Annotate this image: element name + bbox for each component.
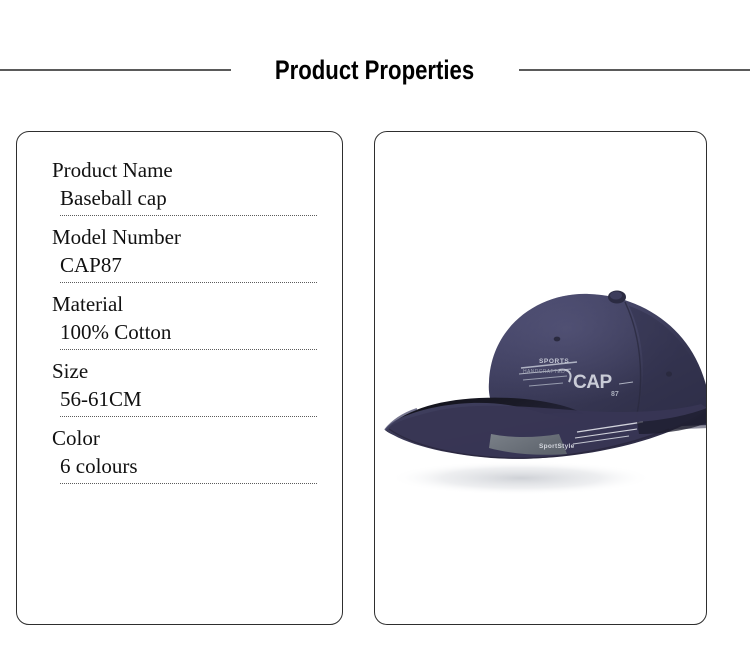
specifications-panel: Product Name Baseball cap Model Number C…	[16, 131, 343, 625]
spec-value-container: Baseball cap	[36, 188, 323, 216]
cap-eyelet	[554, 337, 561, 342]
spec-row: Product Name Baseball cap	[36, 149, 323, 216]
spec-value-color: 6 colours	[60, 456, 317, 484]
spec-value-container: 6 colours	[36, 456, 323, 484]
page-title: Product Properties	[275, 57, 474, 84]
spec-value-material: 100% Cotton	[60, 322, 317, 350]
spec-row: Size 56-61CM	[36, 350, 323, 417]
spec-label-product-name: Product Name	[36, 149, 323, 188]
spec-value-product-name: Baseball cap	[60, 188, 317, 216]
spec-label-material: Material	[36, 283, 323, 322]
spec-value-model-number: CAP87	[60, 255, 317, 283]
spec-label-model-number: Model Number	[36, 216, 323, 255]
spec-row: Model Number CAP87	[36, 216, 323, 283]
spec-label-color: Color	[36, 417, 323, 456]
product-image-panel: SPORTS HANDCRAFTED CAP 87 SportStyl	[374, 131, 707, 625]
svg-text:HANDCRAFTED: HANDCRAFTED	[523, 369, 565, 375]
cap-eyelet	[666, 371, 672, 376]
spec-value-container: 100% Cotton	[36, 322, 323, 350]
cap-top-button-highlight	[610, 292, 622, 300]
spec-value-container: 56-61CM	[36, 389, 323, 417]
spec-row: Material 100% Cotton	[36, 283, 323, 350]
header-divider-left	[0, 69, 231, 71]
spec-value-container: CAP87	[36, 255, 323, 283]
specification-list: Product Name Baseball cap Model Number C…	[36, 149, 323, 484]
spec-row: Color 6 colours	[36, 417, 323, 484]
header-divider-right	[519, 69, 750, 71]
svg-text:SportStyle: SportStyle	[539, 443, 575, 450]
page-header: Product Properties	[0, 48, 750, 92]
product-image-stage: SPORTS HANDCRAFTED CAP 87 SportStyl	[375, 132, 706, 624]
svg-text:87: 87	[611, 391, 619, 398]
svg-text:SPORTS: SPORTS	[539, 358, 569, 365]
spec-value-size: 56-61CM	[60, 389, 317, 417]
svg-text:CAP: CAP	[573, 372, 612, 393]
baseball-cap-photo: SPORTS HANDCRAFTED CAP 87 SportStyl	[375, 262, 706, 512]
spec-label-size: Size	[36, 350, 323, 389]
cap-ground-shadow	[389, 461, 653, 495]
